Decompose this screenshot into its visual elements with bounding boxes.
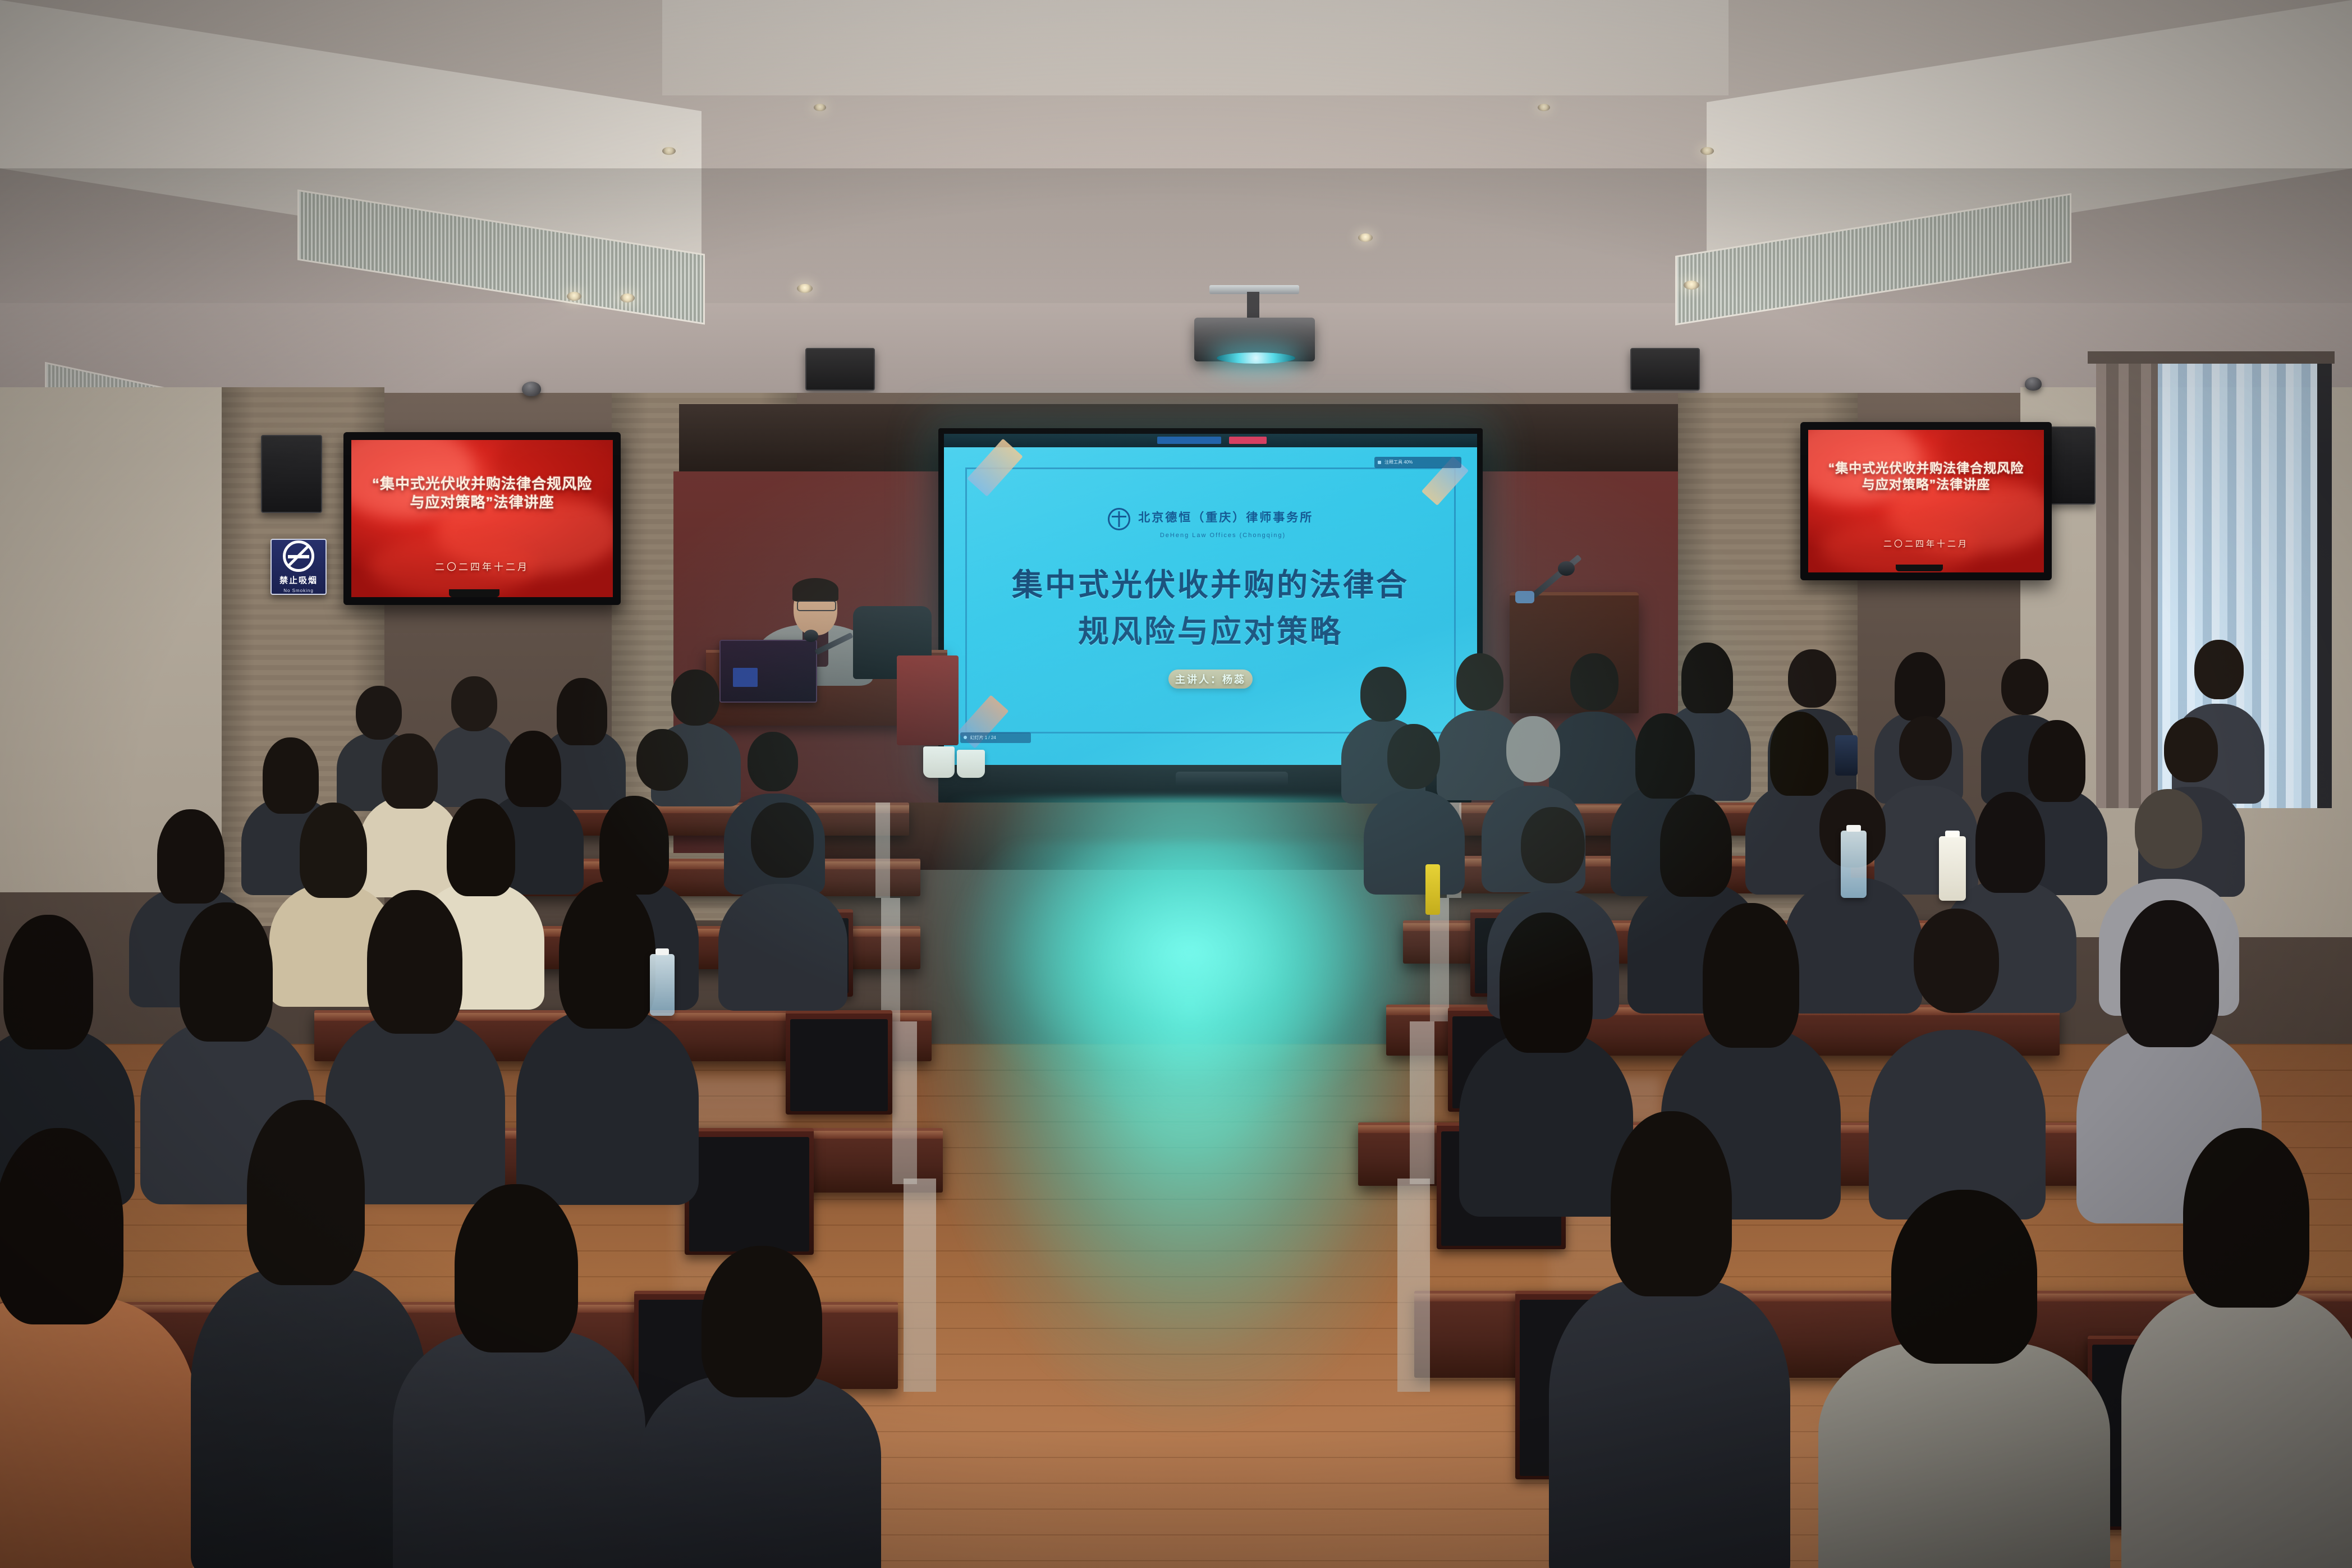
audience-member <box>640 1246 881 1568</box>
speaker-badge: 主讲人：杨蕊 <box>1168 670 1253 689</box>
audience-member <box>393 1184 645 1568</box>
slide-title-line2: 规风险与应对策略 <box>976 608 1445 655</box>
downlight <box>567 292 581 301</box>
curtain-rod <box>2088 351 2335 364</box>
desk-side-panel <box>1410 1021 1434 1184</box>
no-smoking-label-cn: 禁止吸烟 <box>279 574 318 586</box>
drink-bottle <box>1939 836 1966 901</box>
podium-microphone-head <box>1558 561 1575 576</box>
slide-number-tag[interactable]: 幻灯片 1 / 24 <box>960 732 1031 743</box>
desk-side-panel <box>1430 898 1449 1021</box>
slide-annotation-tag[interactable]: 注释工具 40% <box>1374 457 1461 468</box>
bottle-cap <box>1846 825 1861 832</box>
tv-left-stand <box>449 589 499 597</box>
slide-number-label: 幻灯片 1 / 24 <box>970 735 996 741</box>
chair <box>786 1010 892 1115</box>
desk-side-panel <box>904 1179 936 1392</box>
ceiling <box>0 0 2352 427</box>
stage-drape <box>897 655 959 745</box>
desk-side-panel <box>881 898 900 1021</box>
audience-member <box>516 878 699 1201</box>
aisle-light-pool <box>943 842 1437 1156</box>
firm-logo-en: DeHeng Law Offices (Chongqing) <box>969 532 1477 539</box>
firm-logo: 北京德恒（重庆）律师事务所 DeHeng Law Offices (Chongq… <box>944 508 1477 539</box>
tea-cup <box>923 746 955 778</box>
ceiling-speaker-left <box>805 348 875 391</box>
desk-side-panel <box>875 803 890 898</box>
audience-member <box>191 1100 427 1568</box>
audience-member <box>1549 1111 1790 1568</box>
slide-title-line1: 集中式光伏收并购的法律合 <box>976 562 1445 608</box>
downlight <box>814 104 826 111</box>
soundbar <box>1176 772 1288 786</box>
downlight <box>1684 281 1699 290</box>
audience-member <box>2121 1128 2352 1568</box>
downlight <box>662 147 676 155</box>
presentation-status-chip <box>1157 437 1221 444</box>
presenter-hair <box>792 578 838 602</box>
glasses-icon <box>797 600 836 611</box>
chair <box>685 1128 814 1255</box>
bottle-cap <box>1945 831 1960 837</box>
presenter-microphone-head <box>804 630 818 642</box>
slide-title: 集中式光伏收并购的法律合 规风险与应对策略 <box>976 562 1445 654</box>
bottle-cap <box>655 948 670 955</box>
ceiling-speaker-right <box>1630 348 1700 391</box>
downlight <box>1358 233 1373 242</box>
projector-lens <box>1217 352 1295 364</box>
audience-member <box>1364 718 1465 892</box>
tv-right-date: 二〇二四年十二月 <box>1808 538 2044 549</box>
tv-left-screen: “集中式光伏收并购法律合规风险 与应对策略”法律讲座 二〇二四年十二月 <box>351 440 613 597</box>
audience-member <box>0 1128 196 1568</box>
tv-right-stand <box>1896 565 1943 571</box>
conference-room-photo: 禁止吸烟 No Smoking “集中式光伏收并购法律合规风险 与应对策略”法律… <box>0 0 2352 1568</box>
desk-side-panel <box>1397 1179 1430 1392</box>
dome-camera-icon <box>2025 377 2042 391</box>
slide-icon <box>964 736 967 739</box>
tea-cup <box>957 750 985 778</box>
tv-left-title: “集中式光伏收并购法律合规风险 与应对策略”法律讲座 <box>362 475 603 511</box>
presentation-toolbar <box>944 434 1477 447</box>
annotation-tag-label: 注释工具 40% <box>1384 459 1413 465</box>
podium-lamp-icon <box>1515 591 1534 603</box>
downlight <box>1538 104 1550 111</box>
window-frame-edge <box>2317 359 2332 808</box>
orange-puffer-coat <box>0 1296 196 1568</box>
downlight <box>620 294 635 302</box>
no-smoking-icon <box>283 540 314 572</box>
tv-left-date: 二〇二四年十二月 <box>351 559 613 573</box>
tv-right-title: “集中式光伏收并购法律合规风险 与应对策略”法律讲座 <box>1818 460 2034 493</box>
firm-logo-cn: 北京德恒（重庆）律师事务所 <box>1138 511 1313 524</box>
annotation-icon <box>1378 461 1381 464</box>
no-smoking-label-en: No Smoking <box>283 588 314 593</box>
downlight <box>797 284 813 293</box>
tv-display-right: “集中式光伏收并购法律合规风险 与应对策略”法律讲座 二〇二四年十二月 <box>1800 422 2052 580</box>
tv-right-screen: “集中式光伏收并购法律合规风险 与应对策略”法律讲座 二〇二四年十二月 <box>1808 430 2044 572</box>
scales-of-justice-icon <box>1108 508 1130 530</box>
audience-member <box>1818 1190 2110 1568</box>
highlighter-marker <box>1425 864 1440 915</box>
audience-member <box>1869 906 2046 1215</box>
water-bottle <box>1841 831 1867 898</box>
water-bottle <box>650 954 675 1016</box>
smartphone <box>1835 735 1858 776</box>
presentation-exit-chip <box>1229 437 1267 444</box>
grey-wool-coat <box>1818 1341 2110 1568</box>
downlight <box>1700 147 1714 155</box>
tv-display-left: “集中式光伏收并购法律合规风险 与应对策略”法律讲座 二〇二四年十二月 <box>343 432 621 605</box>
desk-side-panel <box>892 1021 917 1184</box>
dome-camera-icon <box>522 382 541 396</box>
audience-member <box>718 797 847 1007</box>
wall-speaker-left <box>261 435 322 513</box>
no-smoking-sign: 禁止吸烟 No Smoking <box>270 539 327 595</box>
